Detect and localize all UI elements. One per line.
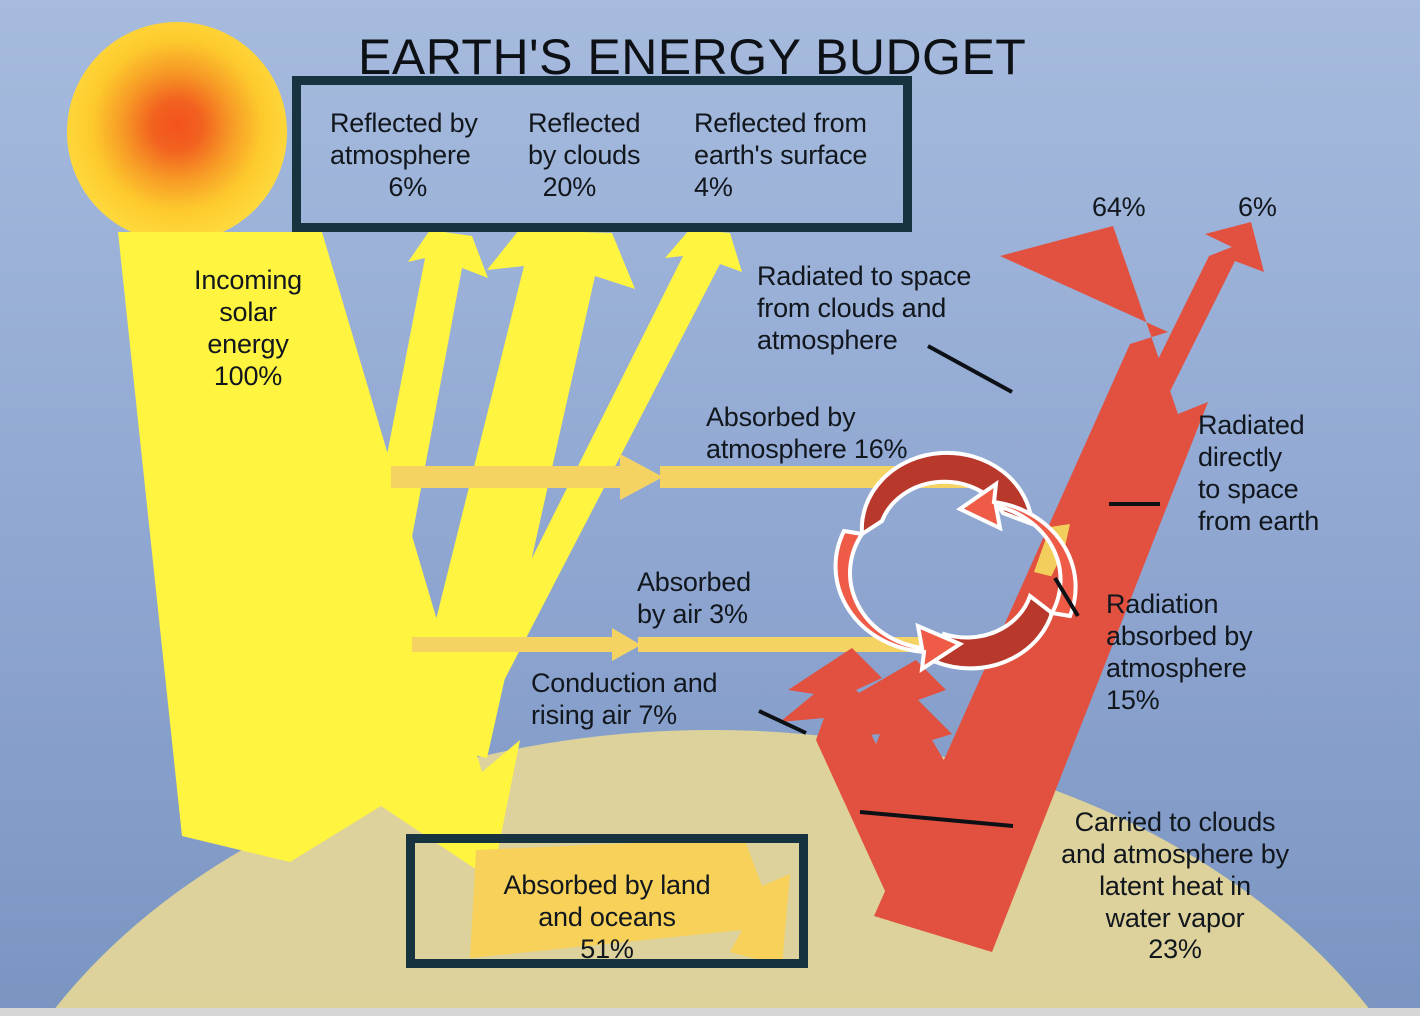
radiated-directly-label: Radiated directly to space from earth xyxy=(1198,410,1319,537)
reflected-from-surface-label: Reflected from earth's surface 4% xyxy=(694,108,867,204)
reflected-by-clouds-label: Reflected by clouds 20% xyxy=(528,108,640,204)
energy-budget-figure: EARTH'S ENERGY BUDGET Reflected by atmos… xyxy=(0,0,1420,1016)
radiated-directly-percent: 6% xyxy=(1238,192,1277,224)
sun-icon xyxy=(67,22,287,242)
absorbed-by-land-label: Absorbed by land and oceans 51% xyxy=(426,870,788,966)
carried-to-clouds-label: Carried to clouds and atmosphere by late… xyxy=(1035,807,1315,966)
radiation-absorbed-label: Radiation absorbed by atmosphere 15% xyxy=(1106,589,1252,716)
reflected-by-atmosphere-label: Reflected by atmosphere 6% xyxy=(330,108,478,204)
incoming-solar-energy-label: Incoming solar energy 100% xyxy=(188,265,308,392)
radiated-to-space-percent: 64% xyxy=(1092,192,1145,224)
absorbed-by-atmosphere-label: Absorbed by atmosphere 16% xyxy=(706,402,907,466)
absorbed-by-air-label: Absorbed by air 3% xyxy=(637,567,751,631)
radiated-to-space-label: Radiated to space from clouds and atmosp… xyxy=(757,261,971,357)
diagram-canvas: EARTH'S ENERGY BUDGET Reflected by atmos… xyxy=(0,0,1420,1008)
conduction-rising-air-label: Conduction and rising air 7% xyxy=(531,668,717,732)
